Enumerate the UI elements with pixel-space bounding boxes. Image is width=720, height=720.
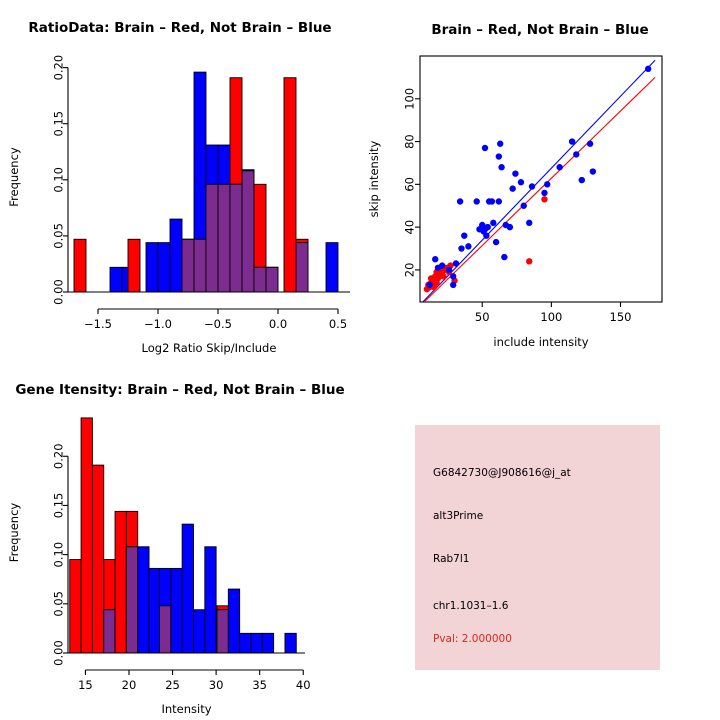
scatter-plot: 20406080100skip intensity50100150include…: [360, 0, 720, 360]
y-axis-title: Frequency: [7, 147, 21, 207]
y-axis-tick-label: 0.10: [52, 167, 66, 193]
scatter-point-blue: [544, 181, 550, 187]
histogram-bar-overlap: [230, 184, 242, 292]
scatter-point-blue: [512, 170, 518, 176]
y-axis-tick-label: 0.00: [52, 279, 66, 305]
x-axis-tick-label: −1.5: [84, 317, 112, 331]
gene-plot-group: 0.000.050.100.150.20Frequency15202530354…: [7, 418, 311, 716]
pval-label: Pval: 2.000000: [433, 633, 512, 645]
scatter-point-red: [526, 258, 532, 264]
scatter-point-blue: [579, 177, 585, 183]
x-axis-tick-label: −1.0: [144, 317, 172, 331]
ratio-histogram-title: RatioData: Brain – Red, Not Brain – Blue: [0, 20, 360, 36]
histogram-bar-blue: [262, 633, 273, 653]
y-axis-tick-label: 0.10: [52, 542, 66, 568]
scatter-point-blue: [426, 282, 432, 288]
histogram-bar-red: [284, 78, 296, 292]
scatter-title: Brain – Red, Not Brain – Blue: [360, 22, 720, 38]
y-axis-tick-label: 0.05: [52, 223, 66, 249]
scatter-point-blue: [501, 254, 507, 260]
scatter-point-blue: [485, 224, 491, 230]
scatter-point-blue: [509, 185, 515, 191]
figure-canvas: RatioData: Brain – Red, Not Brain – Blue…: [0, 0, 720, 720]
x-axis-tick-label: 15: [78, 678, 93, 692]
scatter-point-blue: [496, 198, 502, 204]
probe-id-label: G6842730@J908616@j_at: [433, 467, 571, 479]
scatter-point-blue: [521, 203, 527, 209]
histogram-bar-overlap: [218, 184, 230, 292]
y-axis-title: skip intensity: [367, 140, 381, 217]
histogram-bar-red: [128, 239, 140, 292]
scatter-point-blue: [496, 153, 502, 159]
panel-scatter: Brain – Red, Not Brain – Blue 2040608010…: [360, 0, 720, 360]
scatter-point-blue: [450, 273, 456, 279]
y-axis-tick-label: 40: [403, 220, 417, 235]
histogram-bar-blue: [251, 633, 262, 653]
histogram-bar-blue: [158, 243, 170, 292]
scatter-point-blue: [446, 267, 452, 273]
scatter-point-blue: [490, 220, 496, 226]
histogram-bar-blue: [149, 568, 160, 653]
histogram-bar-overlap: [296, 243, 308, 292]
event-type-label: alt3Prime: [433, 510, 483, 522]
histogram-bar-overlap: [104, 610, 115, 653]
scatter-point-red: [541, 196, 547, 202]
x-axis-tick-label: 40: [296, 678, 311, 692]
locus-label: chr1.1031–1.6: [433, 600, 508, 612]
panel-gene-histogram: Gene Itensity: Brain – Red, Not Brain – …: [0, 360, 360, 720]
histogram-bar-red: [81, 418, 92, 653]
scatter-point-blue: [439, 262, 445, 268]
y-axis-tick-label: 0.20: [52, 443, 66, 469]
scatter-point-blue: [529, 183, 535, 189]
histogram-bar-red: [74, 239, 86, 292]
histogram-bar-blue: [138, 547, 149, 653]
histogram-bar-blue: [110, 267, 122, 292]
y-axis-tick-label: 0.20: [52, 55, 66, 81]
histogram-bar-overlap: [206, 184, 218, 292]
scatter-point-blue: [645, 66, 651, 72]
x-axis-title: Intensity: [161, 702, 211, 716]
panel-ratio-histogram: RatioData: Brain – Red, Not Brain – Blue…: [0, 0, 360, 360]
histogram-bar-red: [92, 465, 103, 653]
histogram-bar-blue: [170, 219, 182, 292]
histogram-bar-overlap: [217, 610, 228, 653]
histogram-bar-overlap: [254, 267, 266, 292]
scatter-point-blue: [587, 141, 593, 147]
scatter-point-blue: [541, 190, 547, 196]
y-axis-tick-label: 20: [403, 263, 417, 278]
histogram-bar-overlap: [159, 606, 170, 653]
histogram-bar-blue: [205, 547, 216, 653]
histogram-bar-blue: [182, 524, 193, 653]
histogram-bar-overlap: [242, 171, 254, 292]
scatter-point-blue: [569, 138, 575, 144]
scatter-point-blue: [590, 168, 596, 174]
x-axis-tick-label: 100: [540, 310, 562, 324]
scatter-point-blue: [507, 224, 513, 230]
y-axis-tick-label: 80: [403, 134, 417, 149]
histogram-bar-red: [70, 560, 81, 653]
gene-histogram-title: Gene Itensity: Brain – Red, Not Brain – …: [0, 382, 360, 398]
regression-line-fit-red: [424, 77, 655, 302]
histogram-bar-blue: [171, 568, 182, 653]
scatter-point-blue: [493, 239, 499, 245]
y-axis-tick-label: 0.15: [52, 111, 66, 137]
scatter-point-blue: [497, 141, 503, 147]
x-axis-tick-label: 30: [209, 678, 224, 692]
scatter-point-red: [440, 273, 446, 279]
y-axis-tick-label: 0.05: [52, 591, 66, 617]
scatter-point-blue: [450, 282, 456, 288]
scatter-point-blue: [458, 245, 464, 251]
gene-info-panel: G6842730@J908616@j_at alt3Prime Rab7l1 c…: [415, 425, 660, 670]
x-axis-tick-label: −0.5: [204, 317, 232, 331]
ratio-plot-group: 0.000.050.100.150.20Frequency−1.5−1.0−0.…: [7, 55, 350, 355]
ratio-histogram-plot: 0.000.050.100.150.20Frequency−1.5−1.0−0.…: [0, 0, 360, 360]
histogram-bar-blue: [228, 589, 239, 653]
scatter-point-blue: [461, 232, 467, 238]
histogram-bar-blue: [285, 633, 296, 653]
scatter-point-blue: [498, 164, 504, 170]
x-axis-tick-label: 150: [610, 310, 632, 324]
scatter-point-blue: [556, 164, 562, 170]
histogram-bar-overlap: [182, 239, 194, 292]
y-axis-tick-label: 100: [403, 88, 417, 110]
y-axis-title: Frequency: [7, 503, 21, 563]
histogram-bar-red: [115, 511, 126, 653]
scatter-point-blue: [489, 198, 495, 204]
scatter-point-blue: [526, 220, 532, 226]
histogram-bar-blue: [146, 243, 158, 292]
scatter-point-blue: [465, 243, 471, 249]
x-axis-tick-label: 20: [122, 678, 137, 692]
y-axis-tick-label: 0.15: [52, 493, 66, 519]
gene-name-label: Rab7l1: [433, 553, 469, 565]
x-axis-title: Log2 Ratio Skip/Include: [142, 341, 277, 355]
x-axis-tick-label: 35: [252, 678, 267, 692]
x-axis-tick-label: 0.0: [269, 317, 287, 331]
x-axis-title: include intensity: [493, 335, 588, 349]
scatter-point-blue: [482, 145, 488, 151]
gene-histogram-plot: 0.000.050.100.150.20Frequency15202530354…: [0, 360, 360, 720]
x-axis-tick-label: 25: [165, 678, 180, 692]
scatter-point-blue: [432, 256, 438, 262]
scatter-point-blue: [473, 198, 479, 204]
x-axis-tick-label: 50: [475, 310, 490, 324]
histogram-bar-blue: [240, 633, 251, 653]
x-axis-tick-label: 0.5: [329, 317, 347, 331]
histogram-bar-blue: [326, 243, 338, 292]
y-axis-tick-label: 60: [403, 177, 417, 192]
scatter-point-blue: [457, 198, 463, 204]
scatter-point-blue: [518, 179, 524, 185]
histogram-bar-overlap: [126, 547, 137, 653]
scatter-plot-group: 20406080100skip intensity50100150include…: [367, 56, 662, 349]
scatter-point-blue: [573, 151, 579, 157]
scatter-point-blue: [453, 260, 459, 266]
y-axis-tick-label: 0.00: [52, 640, 66, 666]
scatter-point-blue: [483, 232, 489, 238]
histogram-bar-overlap: [266, 267, 278, 292]
histogram-bar-overlap: [194, 239, 206, 292]
histogram-bar-blue: [193, 610, 204, 653]
